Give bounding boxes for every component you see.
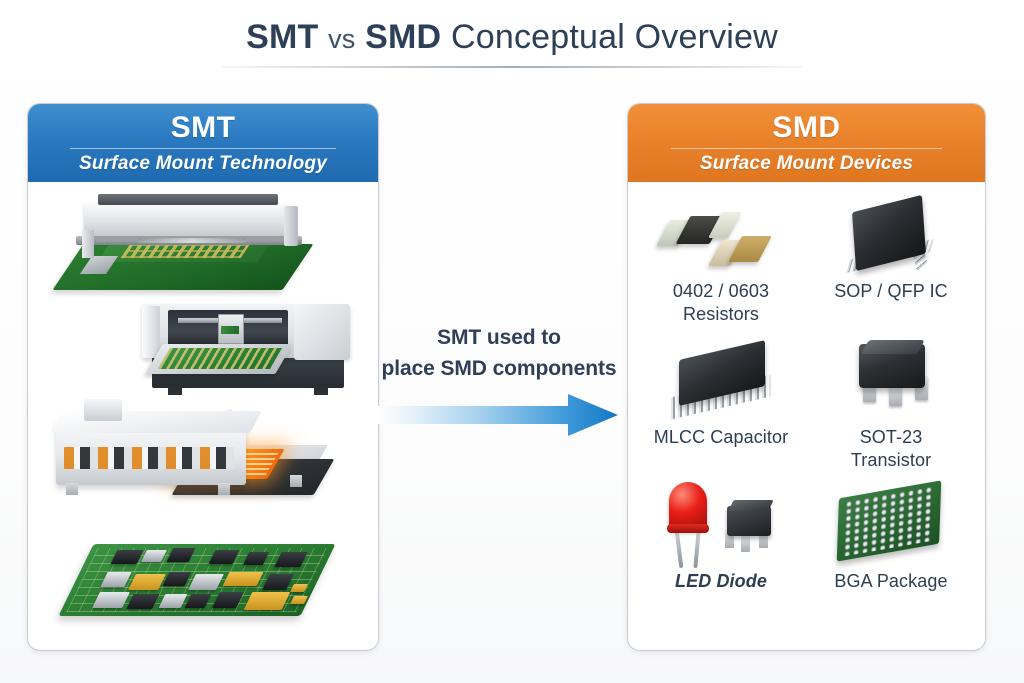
smt-panel-body xyxy=(28,182,378,648)
smd-item-label: SOT-23 Transistor xyxy=(806,426,976,472)
smt-acronym: SMT xyxy=(28,104,378,145)
title-smd: SMD xyxy=(365,18,441,56)
arrow-caption: SMT used to place SMD components xyxy=(378,322,620,384)
smd-item-sot23-transistor: SOT-23 Transistor xyxy=(806,334,976,472)
title-smt: SMT xyxy=(246,18,318,56)
right-arrow-icon xyxy=(378,392,620,438)
pick-and-place-machine-icon xyxy=(134,300,366,410)
page-title: SMT vs SMD Conceptual Overview xyxy=(246,18,778,57)
smd-panel: SMD Surface Mount Devices 0402 / 0603 Re… xyxy=(627,103,986,651)
smd-item-mlcc-capacitor: MLCC Capacitor xyxy=(636,334,806,449)
smt-subtitle: Surface Mount Technology xyxy=(28,149,378,179)
solder-paste-printer-icon xyxy=(46,190,362,308)
smd-item-label: SOP / QFP IC xyxy=(806,280,976,303)
arrow-block: SMT used to place SMD components xyxy=(378,322,620,432)
smd-subtitle: Surface Mount Devices xyxy=(628,149,985,179)
smd-panel-header: SMD Surface Mount Devices xyxy=(628,104,985,182)
sot23-transistor-icon xyxy=(811,334,971,426)
smd-acronym: SMD xyxy=(628,104,985,145)
smt-panel-header: SMT Surface Mount Technology xyxy=(28,104,378,182)
title-vs: vs xyxy=(328,24,355,54)
smd-item-bga-package: BGA Package xyxy=(806,478,976,593)
smd-item-led-diode: LED Diode xyxy=(636,478,806,593)
bga-package-icon xyxy=(811,478,971,570)
smd-item-chip-resistors: 0402 / 0603 Resistors xyxy=(636,188,806,326)
smd-panel-body: 0402 / 0603 Resistors SOP / QFP IC xyxy=(628,182,985,648)
arrow-caption-line1: SMT used to xyxy=(378,322,620,353)
ssop-ic-icon xyxy=(641,334,801,426)
arrow-caption-line2: place SMD components xyxy=(378,353,620,384)
smt-panel: SMT Surface Mount Technology xyxy=(27,103,379,651)
assembled-pcb-icon xyxy=(70,524,348,636)
smd-component-grid: 0402 / 0603 Resistors SOP / QFP IC xyxy=(628,182,985,648)
smd-item-label: MLCC Capacitor xyxy=(636,426,806,449)
chip-resistor-icon xyxy=(641,188,801,280)
led-diode-icon xyxy=(641,478,801,570)
reflow-oven-icon xyxy=(40,397,340,525)
smd-item-label: BGA Package xyxy=(806,570,976,593)
title-rest: Conceptual Overview xyxy=(451,18,778,56)
title-underline xyxy=(222,66,802,68)
title-block: SMT vs SMD Conceptual Overview xyxy=(0,18,1024,68)
qfp-ic-icon xyxy=(811,188,971,280)
smd-item-label: LED Diode xyxy=(636,570,806,593)
smd-item-label: 0402 / 0603 Resistors xyxy=(636,280,806,326)
infographic-canvas: SMT vs SMD Conceptual Overview SMT Surfa… xyxy=(0,0,1024,683)
smd-item-sop-qfp-ic: SOP / QFP IC xyxy=(806,188,976,303)
